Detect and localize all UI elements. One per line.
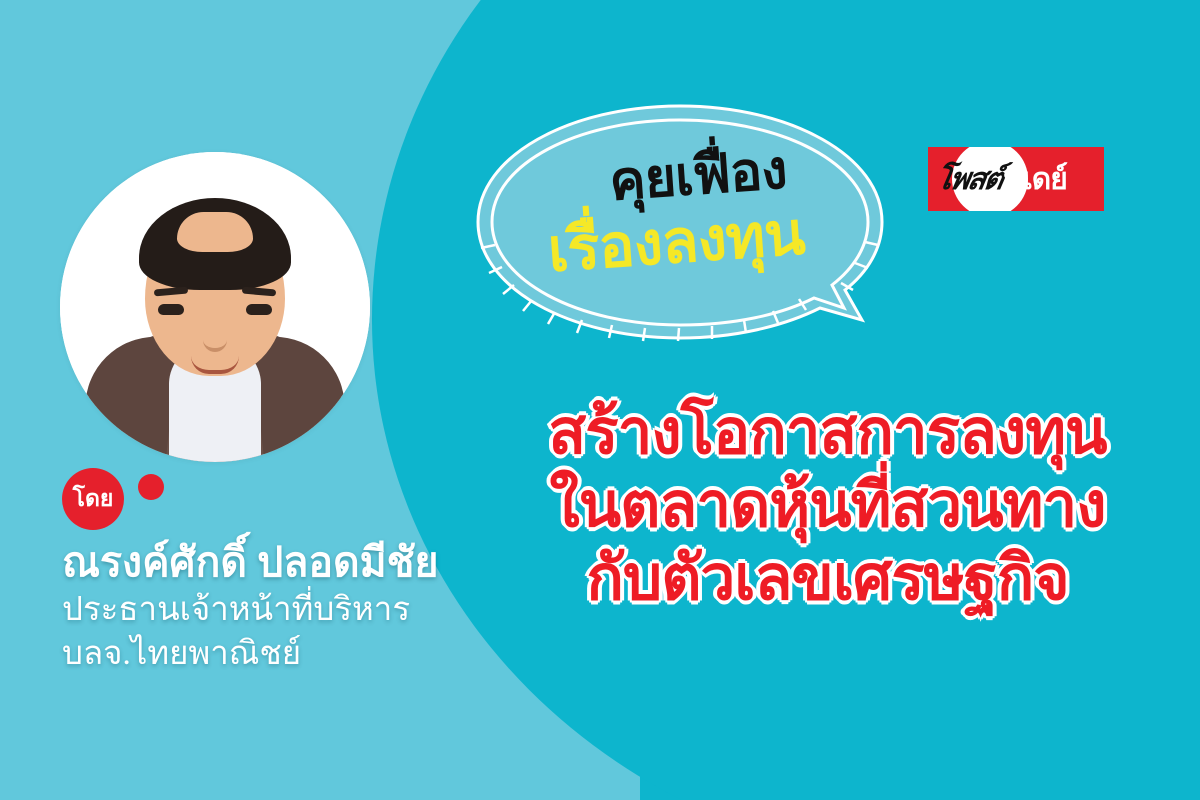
- byline-badges: โดย: [62, 468, 462, 530]
- speaker-name: ณรงค์ศักดิ์ ปลอดมีชัย: [62, 540, 462, 586]
- byline: โดย ณรงค์ศักดิ์ ปลอดมีชัย ประธานเจ้าหน้า…: [62, 468, 462, 674]
- speaker-role: ประธานเจ้าหน้าที่บริหาร: [62, 590, 462, 630]
- headline-line-2: ในตลาดหุ้นที่สวนทาง: [470, 469, 1185, 542]
- portrait-nose: [203, 322, 227, 352]
- portrait-eye-left: [158, 304, 184, 315]
- speaker-company: บลจ.ไทยพาณิชย์: [62, 634, 462, 674]
- by-label-badge: โดย: [62, 468, 124, 530]
- byline-accent-dot: [138, 474, 164, 500]
- headline-line-1: สร้างโอกาสการลงทุน: [470, 396, 1185, 469]
- logo-script-word: โพสต์: [932, 156, 1006, 203]
- portrait-eye-right: [246, 304, 272, 315]
- show-title-speech-bubble: คุยเฟื่อง เรื่องลงทุน: [470, 98, 890, 368]
- speaker-portrait: [60, 152, 370, 462]
- poster-canvas: คุยเฟื่อง เรื่องลงทุน โพสต์ ทูเดย์ สร้าง…: [0, 0, 1200, 800]
- portrait-photo: [60, 152, 370, 462]
- show-title-text: คุยเฟื่อง เรื่องลงทุน: [470, 150, 890, 272]
- headline: สร้างโอกาสการลงทุน ในตลาดหุ้นที่สวนทาง ก…: [470, 396, 1185, 615]
- logo-today-word: ทูเดย์: [1004, 156, 1067, 203]
- publisher-logo[interactable]: โพสต์ ทูเดย์: [928, 147, 1104, 211]
- headline-line-3: กับตัวเลขเศรษฐกิจ: [470, 542, 1185, 615]
